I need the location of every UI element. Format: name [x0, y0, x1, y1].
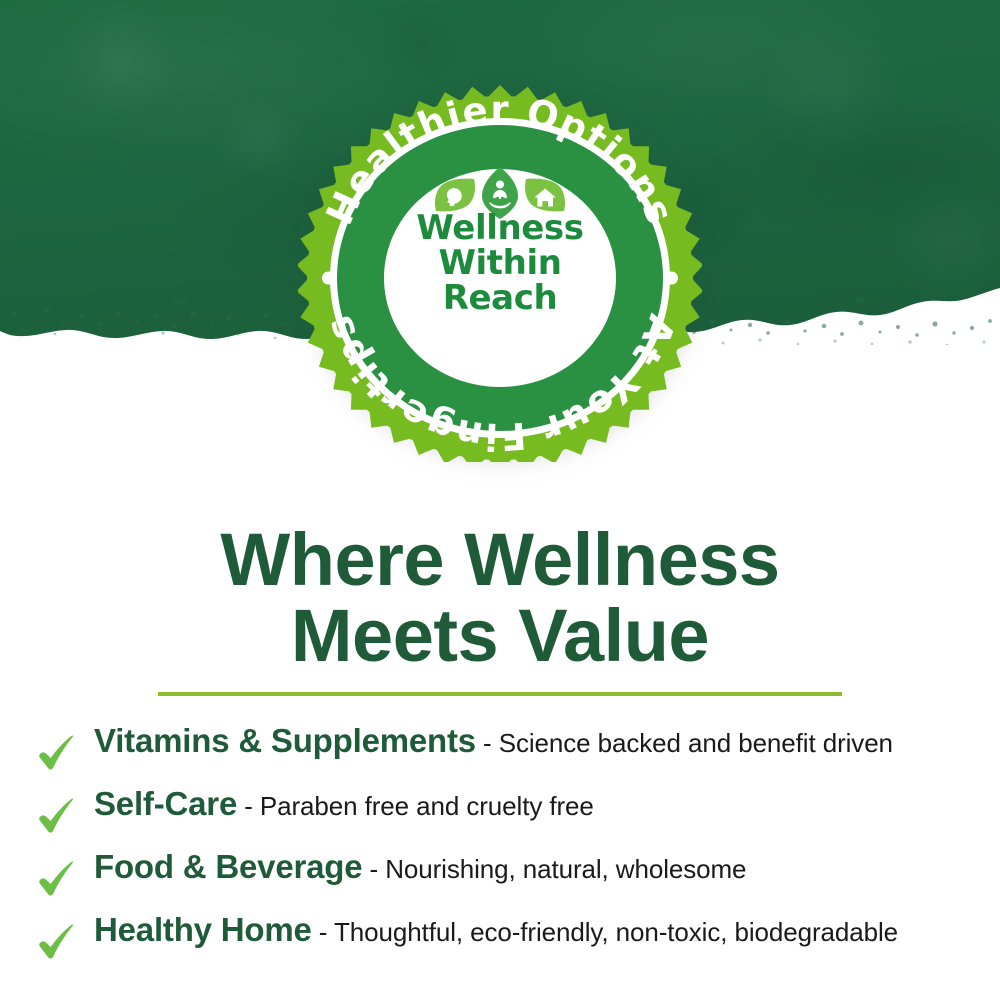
list-item: Food & Beverage - Nourishing, natural, w… — [30, 848, 980, 911]
wellness-badge: Healthier Options At Your Fingertips — [298, 78, 702, 462]
title-divider-rule — [158, 692, 842, 696]
list-item: Self-Care - Paraben free and cruelty fre… — [30, 785, 980, 848]
list-item: Healthy Home - Thoughtful, eco-friendly,… — [30, 911, 980, 974]
badge-inner-disc — [384, 169, 616, 387]
page-title: Where Wellness Meets Value — [0, 522, 1000, 674]
check-mark-icon — [30, 860, 94, 900]
check-mark-icon — [30, 734, 94, 774]
badge-dot-right — [665, 272, 678, 285]
check-mark-icon — [30, 923, 94, 963]
benefit-description: - Thoughtful, eco-friendly, non-toxic, b… — [312, 917, 898, 947]
benefit-label: Food & Beverage — [94, 848, 362, 885]
badge-dot-left — [322, 272, 335, 285]
benefit-description: - Nourishing, natural, wholesome — [362, 854, 746, 884]
benefit-label: Vitamins & Supplements — [94, 722, 476, 759]
benefit-label: Self-Care — [94, 785, 237, 822]
check-mark-icon — [30, 797, 94, 837]
benefits-list: Vitamins & Supplements - Science backed … — [30, 722, 980, 974]
headline-line-2: Meets Value — [0, 598, 1000, 674]
benefit-description: - Paraben free and cruelty free — [237, 791, 594, 821]
headline-line-1: Where Wellness — [220, 518, 779, 601]
wellness-promo-poster: Healthier Options At Your Fingertips — [0, 0, 1000, 1000]
list-item: Vitamins & Supplements - Science backed … — [30, 722, 980, 785]
benefit-description: - Science backed and benefit driven — [476, 728, 893, 758]
benefit-label: Healthy Home — [94, 911, 312, 948]
badge-graphic: Healthier Options At Your Fingertips — [298, 78, 702, 462]
